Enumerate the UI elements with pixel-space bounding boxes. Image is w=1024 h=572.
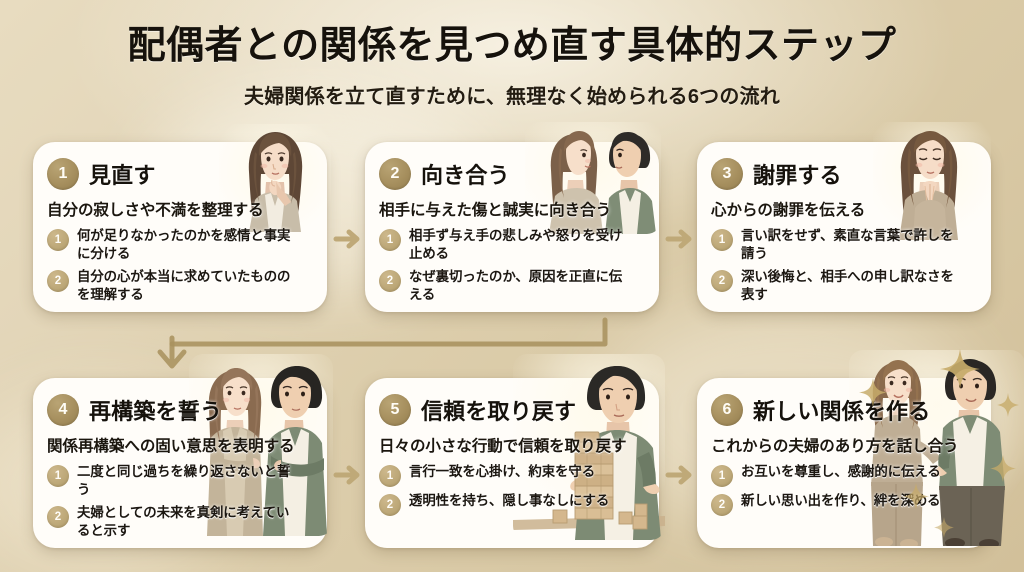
- step-badge-5: 5: [379, 394, 411, 426]
- step-badge-3: 3: [711, 158, 743, 190]
- step-badge-6: 6: [711, 394, 743, 426]
- card-1-subtitle: 自分の寂しさや不満を整理する: [47, 198, 312, 220]
- bullet-badge: 1: [379, 465, 401, 487]
- bullet-text: 夫婦としての未来を真剣に考えていると示す: [77, 504, 292, 540]
- card-6-title: 新しい関係を作る: [753, 394, 930, 426]
- list-item: 1 言い訳をせず、素直な言葉で許しを請う: [711, 227, 976, 263]
- arrow-right-icon: [663, 222, 697, 256]
- bullet-text: 新しい思い出を作り、絆を深める: [741, 492, 941, 510]
- bullet-badge: 2: [379, 270, 401, 292]
- list-item: 1 何が足りなかったのかを感情と事実に分ける: [47, 227, 312, 263]
- arrow-right-icon: [663, 458, 697, 492]
- header: 配偶者との関係を見つめ直す具体的ステップ 夫婦関係を立て直すために、無理なく始め…: [0, 24, 1024, 109]
- card-3-bullets: 1 言い訳をせず、素直な言葉で許しを請う 2 深い後悔と、相手への申し訳なさを表…: [711, 227, 976, 304]
- card-5-bullets: 1 言行一致を心掛け、約束を守る 2 透明性を持ち、隠し事なしにする: [379, 463, 644, 516]
- card-3-subtitle: 心からの謝罪を伝える: [711, 198, 976, 220]
- card-2-title: 向き合う: [421, 158, 510, 190]
- card-6-bullets: 1 お互いを尊重し、感謝的に伝える 2 新しい思い出を作り、絆を深める: [711, 463, 976, 516]
- arrow-right-icon: [331, 222, 365, 256]
- elbow-arrow-down-icon: [150, 316, 620, 378]
- list-item: 1 言行一致を心掛け、約束を守る: [379, 463, 644, 487]
- card-5-head: 5 信頼を取り戻す: [379, 392, 644, 428]
- list-item: 2 なぜ裏切ったのか、原因を正直に伝える: [379, 268, 644, 304]
- card-1-title: 見直す: [89, 158, 156, 190]
- card-5-title: 信頼を取り戻す: [421, 394, 576, 426]
- bullet-badge: 2: [47, 506, 69, 528]
- card-4-subtitle: 関係再構築への固い意思を表明する: [47, 434, 312, 456]
- bullet-text: 何が足りなかったのかを感情と事実に分ける: [77, 227, 292, 263]
- bullet-badge: 1: [379, 229, 401, 251]
- bullet-badge: 2: [47, 270, 69, 292]
- bullet-text: 相手ず与え手の悲しみや怒りを受け止める: [409, 227, 624, 263]
- step-card-5[interactable]: 5 信頼を取り戻す 日々の小さな行動で信頼を取り戻す 1 言行一致を心掛け、約束…: [365, 378, 659, 548]
- page-title: 配偶者との関係を見つめ直す具体的ステップ: [0, 24, 1024, 69]
- arrow-right-icon: [331, 458, 365, 492]
- card-2-head: 2 向き合う: [379, 156, 644, 192]
- bullet-badge: 2: [711, 270, 733, 292]
- page-subtitle: 夫婦関係を立て直すために、無理なく始められる6つの流れ: [0, 80, 1024, 109]
- card-2-subtitle: 相手に与えた傷と誠実に向き合う: [379, 198, 644, 220]
- step-card-1[interactable]: 1 見直す 自分の寂しさや不満を整理する 1 何が足りなかったのかを感情と事実に…: [33, 142, 327, 312]
- bullet-text: 自分の心が本当に求めていたもののを理解する: [77, 268, 292, 304]
- list-item: 1 二度と同じ過ちを繰り返さないと誓う: [47, 463, 312, 499]
- card-3-title: 謝罪する: [753, 158, 842, 190]
- bullet-badge: 1: [47, 465, 69, 487]
- card-6-head: 6 新しい関係を作る: [711, 392, 976, 428]
- list-item: 2 新しい思い出を作り、絆を深める: [711, 492, 976, 516]
- card-2-bullets: 1 相手ず与え手の悲しみや怒りを受け止める 2 なぜ裏切ったのか、原因を正直に伝…: [379, 227, 644, 304]
- card-4-head: 4 再構築を誓う: [47, 392, 312, 428]
- list-item: 2 自分の心が本当に求めていたもののを理解する: [47, 268, 312, 304]
- card-1-bullets: 1 何が足りなかったのかを感情と事実に分ける 2 自分の心が本当に求めていたもの…: [47, 227, 312, 304]
- card-3-head: 3 謝罪する: [711, 156, 976, 192]
- bullet-text: 言行一致を心掛け、約束を守る: [409, 463, 595, 481]
- list-item: 1 お互いを尊重し、感謝的に伝える: [711, 463, 976, 487]
- bullet-text: 透明性を持ち、隠し事なしにする: [409, 492, 609, 510]
- card-6-subtitle: これからの夫婦のあり方を話し合う: [711, 434, 976, 456]
- step-card-4[interactable]: 4 再構築を誓う 関係再構築への固い意思を表明する 1 二度と同じ過ちを繰り返さ…: [33, 378, 327, 548]
- list-item: 2 透明性を持ち、隠し事なしにする: [379, 492, 644, 516]
- step-badge-2: 2: [379, 158, 411, 190]
- bullet-text: お互いを尊重し、感謝的に伝える: [741, 463, 941, 481]
- bullet-text: なぜ裏切ったのか、原因を正直に伝える: [409, 268, 624, 304]
- bullet-badge: 2: [711, 494, 733, 516]
- bullet-badge: 1: [47, 229, 69, 251]
- step-card-6[interactable]: 6 新しい関係を作る これからの夫婦のあり方を話し合う 1 お互いを尊重し、感謝…: [697, 378, 991, 548]
- card-4-bullets: 1 二度と同じ過ちを繰り返さないと誓う 2 夫婦としての未来を真剣に考えていると…: [47, 463, 312, 540]
- infographic-canvas: 配偶者との関係を見つめ直す具体的ステップ 夫婦関係を立て直すために、無理なく始め…: [0, 0, 1024, 572]
- bullet-text: 深い後悔と、相手への申し訳なさを表す: [741, 268, 956, 304]
- list-item: 2 深い後悔と、相手への申し訳なさを表す: [711, 268, 976, 304]
- bullet-badge: 1: [711, 465, 733, 487]
- card-1-head: 1 見直す: [47, 156, 312, 192]
- bullet-text: 言い訳をせず、素直な言葉で許しを請う: [741, 227, 956, 263]
- step-card-2[interactable]: 2 向き合う 相手に与えた傷と誠実に向き合う 1 相手ず与え手の悲しみや怒りを受…: [365, 142, 659, 312]
- step-card-3[interactable]: 3 謝罪する 心からの謝罪を伝える 1 言い訳をせず、素直な言葉で許しを請う 2…: [697, 142, 991, 312]
- bullet-badge: 1: [711, 229, 733, 251]
- step-badge-1: 1: [47, 158, 79, 190]
- bullet-text: 二度と同じ過ちを繰り返さないと誓う: [77, 463, 292, 499]
- bullet-badge: 2: [379, 494, 401, 516]
- list-item: 1 相手ず与え手の悲しみや怒りを受け止める: [379, 227, 644, 263]
- list-item: 2 夫婦としての未来を真剣に考えていると示す: [47, 504, 312, 540]
- card-4-title: 再構築を誓う: [89, 394, 222, 426]
- step-badge-4: 4: [47, 394, 79, 426]
- card-5-subtitle: 日々の小さな行動で信頼を取り戻す: [379, 434, 644, 456]
